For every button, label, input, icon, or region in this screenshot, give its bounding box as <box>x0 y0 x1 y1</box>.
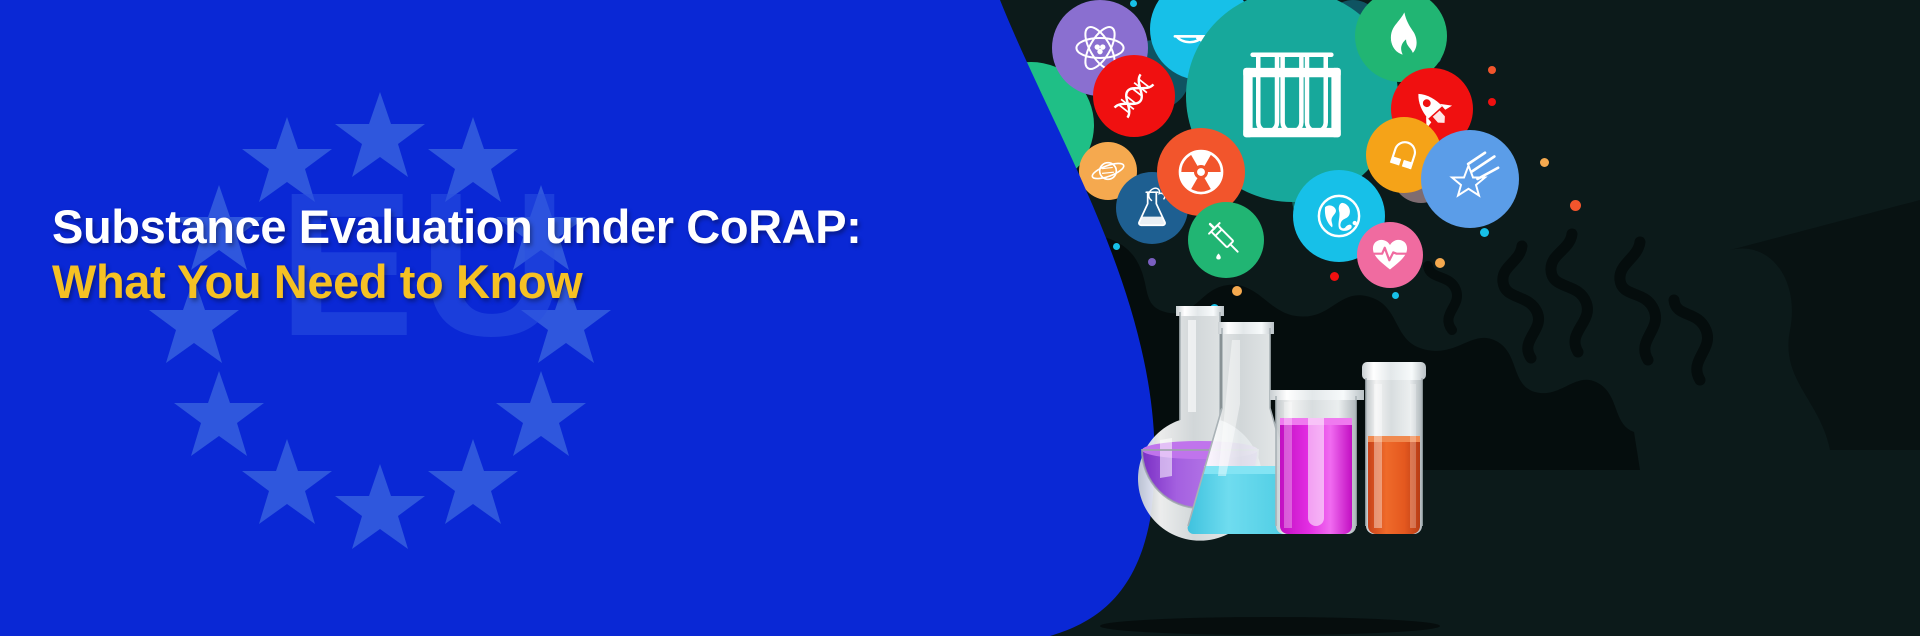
globe-glyph <box>1311 188 1367 244</box>
reagent-bottle <box>1362 362 1426 534</box>
flame-glyph <box>1374 9 1428 63</box>
blue-background-panel <box>0 0 1260 636</box>
headline-line-1: Substance Evaluation under CoRAP: <box>52 200 952 255</box>
heartbeat-icon <box>1357 222 1423 288</box>
deco-dot <box>1488 98 1496 106</box>
headline-line-2: What You Need to Know <box>52 255 952 310</box>
laboratory-glassware-group <box>1080 300 1440 636</box>
deco-dot <box>1435 258 1445 268</box>
glassware-svg <box>1080 300 1440 636</box>
heartbeat-glyph <box>1369 234 1411 276</box>
deco-dot <box>1540 158 1549 167</box>
blue-curve-shape <box>0 0 1260 636</box>
hero-banner: EU Substance Evaluation under CoRAP: Wha… <box>0 0 1920 636</box>
deco-dot <box>1480 228 1489 237</box>
deco-dot <box>1330 272 1339 281</box>
shooting-star-glyph <box>1440 149 1500 209</box>
magnet-glyph <box>1381 132 1427 178</box>
deco-dot <box>1488 66 1496 74</box>
deco-dot <box>1392 292 1399 299</box>
headline-block: Substance Evaluation under CoRAP: What Y… <box>52 200 952 310</box>
shooting-star-icon <box>1421 130 1519 228</box>
beaker <box>1270 390 1364 534</box>
deco-dot <box>1570 200 1581 211</box>
